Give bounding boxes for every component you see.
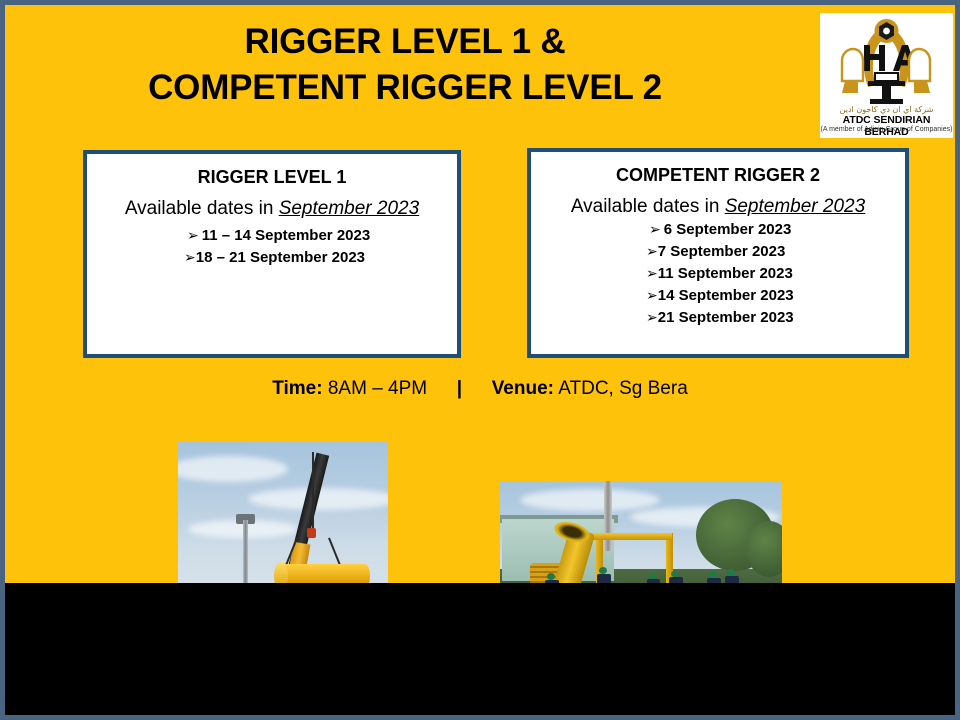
- list-item: ➢18 – 21 September 2023: [184, 247, 457, 269]
- arrow-bullet-icon: ➢: [646, 288, 658, 304]
- course-title: COMPETENT RIGGER 2: [531, 165, 905, 186]
- atdc-emblem-icon: [820, 15, 953, 107]
- logo-company-subtitle: (A member of Adinin Group of Companies): [820, 126, 953, 133]
- slide-frame: RIGGER LEVEL 1 & COMPETENT RIGGER LEVEL …: [0, 0, 960, 720]
- hard-hat: [709, 571, 717, 578]
- cloud: [520, 489, 660, 511]
- gantry-beam: [592, 533, 672, 540]
- course-subtitle-month: September 2023: [279, 198, 420, 219]
- schedule-line: Time: 8AM – 4PM | Venue: ATDC, Sg Bera: [5, 378, 955, 400]
- logo-arabic-text: شركة اي ان دي كاجون ادين: [820, 105, 953, 114]
- hard-hat: [599, 567, 607, 574]
- venue-value: ATDC, Sg Bera: [558, 378, 688, 399]
- hard-hat: [547, 573, 555, 580]
- bottom-black-band: [5, 583, 955, 715]
- arrow-bullet-icon: ➢: [184, 250, 196, 266]
- schedule-separator: |: [432, 378, 486, 400]
- steel-tower: [604, 481, 612, 551]
- poster-canvas: RIGGER LEVEL 1 & COMPETENT RIGGER LEVEL …: [5, 5, 955, 583]
- course-card-competent-rigger-2: COMPETENT RIGGER 2 Available dates in Se…: [527, 148, 909, 358]
- poster-header: RIGGER LEVEL 1 & COMPETENT RIGGER LEVEL …: [5, 5, 805, 125]
- course-subtitle-prefix: Available dates in: [571, 196, 725, 217]
- hoist-wire: [312, 452, 314, 530]
- crane-hook: [307, 528, 316, 538]
- course-date-list: ➢11 – 14 September 2023 ➢18 – 21 Septemb…: [187, 225, 457, 269]
- date-text: 7 September 2023: [658, 243, 786, 260]
- date-text: 11 – 14 September 2023: [202, 227, 370, 244]
- course-subtitle-month: September 2023: [725, 196, 866, 217]
- date-text: 18 – 21 September 2023: [196, 249, 365, 266]
- list-item: ➢7 September 2023: [646, 241, 905, 263]
- date-text: 11 September 2023: [658, 265, 793, 282]
- time-value: 8AM – 4PM: [328, 378, 427, 399]
- date-text: 21 September 2023: [658, 309, 794, 326]
- arrow-bullet-icon: ➢: [646, 266, 658, 282]
- list-item: ➢11 September 2023: [646, 263, 905, 285]
- course-subtitle: Available dates in September 2023: [531, 196, 905, 218]
- arrow-bullet-icon: ➢: [646, 310, 658, 326]
- course-card-rigger-level-1: RIGGER LEVEL 1 Available dates in Septem…: [83, 150, 461, 358]
- course-subtitle: Available dates in September 2023: [87, 198, 457, 220]
- time-label: Time:: [272, 378, 322, 399]
- list-item: ➢21 September 2023: [646, 307, 905, 329]
- course-date-list: ➢6 September 2023 ➢7 September 2023 ➢11 …: [649, 219, 905, 328]
- arrow-bullet-icon: ➢: [187, 228, 199, 244]
- list-item: ➢6 September 2023: [649, 219, 905, 241]
- course-subtitle-prefix: Available dates in: [125, 198, 279, 219]
- page-title: RIGGER LEVEL 1 & COMPETENT RIGGER LEVEL …: [35, 19, 775, 110]
- course-title: RIGGER LEVEL 1: [87, 167, 457, 188]
- arrow-bullet-icon: ➢: [646, 244, 658, 260]
- list-item: ➢14 September 2023: [646, 285, 905, 307]
- date-text: 6 September 2023: [664, 221, 792, 238]
- list-item: ➢11 – 14 September 2023: [187, 225, 457, 247]
- venue-label: Venue:: [492, 378, 554, 399]
- arrow-bullet-icon: ➢: [649, 222, 661, 238]
- company-logo: شركة اي ان دي كاجون ادين ATDC SENDIRIAN …: [820, 13, 953, 138]
- date-text: 14 September 2023: [658, 287, 794, 304]
- hard-hat: [727, 569, 735, 576]
